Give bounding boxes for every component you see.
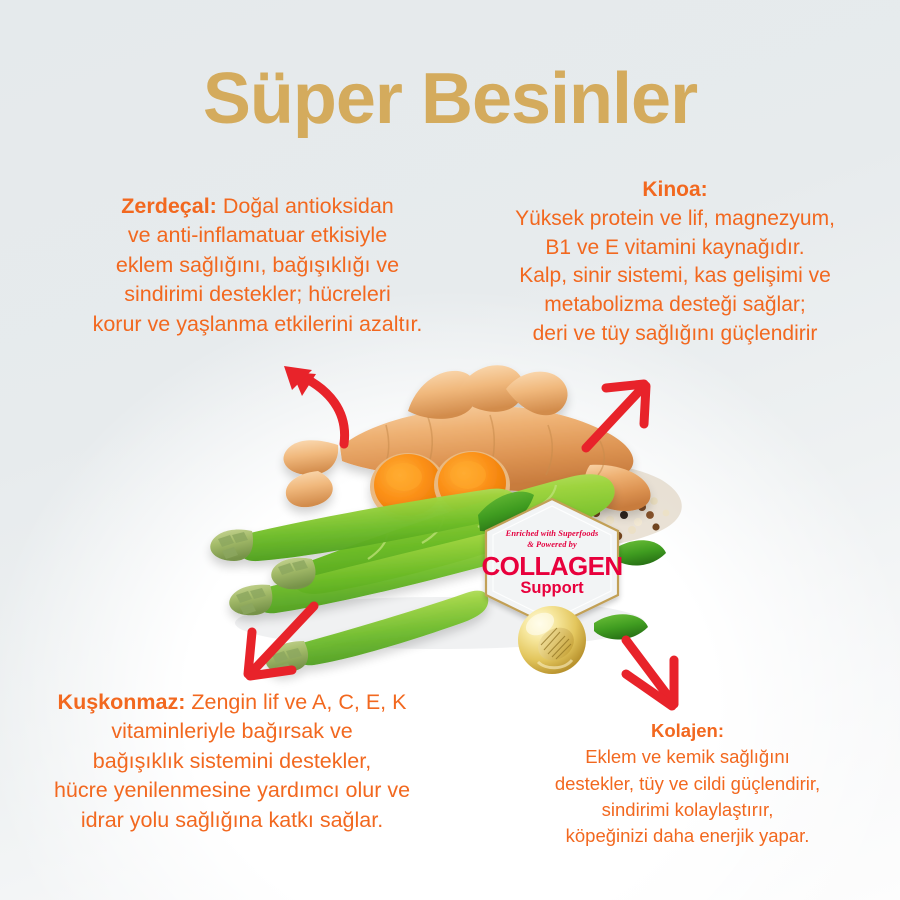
callout-kolajen-line-3: sindirimi kolaylaştırır, [520,797,855,823]
callout-kinoa-line-3: Kalp, sinir sistemi, kas gelişimi ve [480,262,870,291]
callout-zerdecal-line-4: sindirimi destekler; hücreleri [60,280,455,309]
callout-zerdecal-label: Zerdeçal: [121,194,217,218]
callout-zerdecal-line-1-rest: Doğal antioksidan [217,194,394,218]
page-title: Süper Besinler [0,62,900,138]
callout-kuskonmaz-line-3: bağışıklık sistemini destekler, [12,747,452,776]
callout-kuskonmaz-line-1: Kuşkonmaz: Zengin lif ve A, C, E, K [12,688,452,717]
gold-softgel-capsule [512,600,592,676]
callout-zerdecal-line-1: Zerdeçal: Doğal antioksidan [60,192,455,221]
callout-kinoa-line-4: metabolizma desteği sağlar; [480,291,870,320]
callout-kinoa-line-1: Yüksek protein ve lif, magnezyum, [480,205,870,234]
callout-kuskonmaz-line-4: hücre yenilenmesine yardımcı olur ve [12,776,452,805]
callout-kuskonmaz-line-2: vitaminleriyle bağırsak ve [12,717,452,746]
callout-kinoa: Kinoa: Yüksek protein ve lif, magnezyum,… [480,176,870,349]
arrow-to-kolajen [612,626,704,718]
arrow-to-kuskonmaz [228,598,324,690]
callout-zerdecal-line-2: ve anti-inflamatuar etkisiyle [60,221,455,250]
callout-kuskonmaz-line-1-rest: Zengin lif ve A, C, E, K [185,690,406,714]
callout-kinoa-label: Kinoa: [480,176,870,205]
callout-kolajen-label: Kolajen: [520,718,855,744]
callout-kinoa-line-5: deri ve tüy sağlığını güçlendirir [480,320,870,349]
callout-zerdecal-line-5: korur ve yaşlanma etkilerini azaltır. [60,310,455,339]
callout-kolajen-line-1: Eklem ve kemik sağlığını [520,744,855,770]
callout-zerdecal: Zerdeçal: Doğal antioksidan ve anti-infl… [60,192,455,339]
arrow-to-zerdecal [262,352,362,452]
callout-kolajen-line-2: destekler, tüy ve cildi güçlendirir, [520,771,855,797]
callout-kuskonmaz: Kuşkonmaz: Zengin lif ve A, C, E, K vita… [12,688,452,835]
arrow-to-kinoa [576,366,668,458]
callout-kolajen: Kolajen: Eklem ve kemik sağlığını destek… [520,718,855,849]
callout-kinoa-line-2: B1 ve E vitamini kaynağıdır. [480,234,870,263]
infographic-poster: Süper Besinler [0,0,900,900]
callout-kuskonmaz-line-5: idrar yolu sağlığına katkı sağlar. [12,806,452,835]
callout-kolajen-line-4: köpeğinizi daha enerjik yapar. [520,823,855,849]
callout-kuskonmaz-label: Kuşkonmaz: [58,690,186,714]
callout-zerdecal-line-3: eklem sağlığını, bağışıklığı ve [60,251,455,280]
